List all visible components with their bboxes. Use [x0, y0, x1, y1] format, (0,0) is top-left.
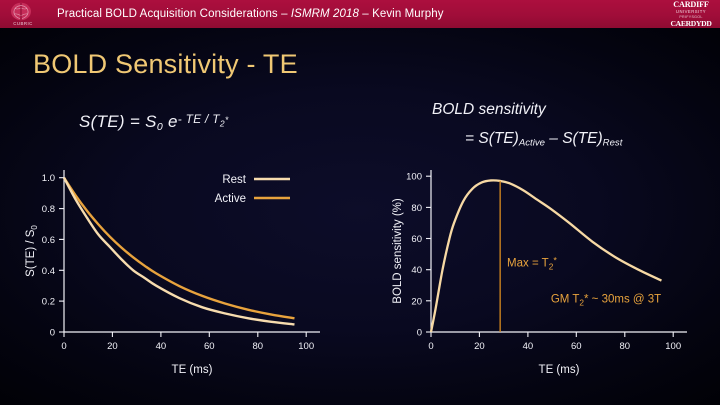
- signal-equation: S(TE) = S0 e- TE / T2*: [79, 112, 229, 133]
- axis-lines: [431, 170, 687, 332]
- cubric-brain-logo: CUBRIC: [2, 0, 44, 28]
- slide-canvas: CUBRIC Practical BOLD Acquisition Consid…: [0, 0, 720, 405]
- y-ticks: [426, 176, 431, 332]
- legend-label-rest: Rest: [222, 174, 246, 186]
- signal-equation-exponent-star: *: [225, 115, 229, 125]
- cubric-logo-caption: CUBRIC: [5, 21, 41, 26]
- chart-signal-decay: 0 0.2 0.4 0.6 0.8 1.0 0: [18, 152, 348, 387]
- brain-icon: [10, 2, 32, 21]
- y-tick-labels: 0 0.2 0.4 0.6 0.8 1.0: [42, 173, 55, 338]
- y-axis-title: BOLD sensitivity (%): [392, 198, 404, 304]
- header-title: Practical BOLD Acquisition Consideration…: [57, 8, 444, 20]
- x-tick-label: 40: [523, 341, 534, 352]
- sensitivity-eq-mid: – S(TE): [545, 130, 603, 147]
- curve-rest: [64, 178, 294, 325]
- header-title-italic: ISMRM 2018: [291, 8, 359, 20]
- y-axis-title-sub: 0: [30, 225, 39, 230]
- y-tick-label: 0.6: [42, 235, 55, 246]
- curve-bold-sensitivity: [431, 180, 661, 332]
- y-axis-title-main: S(TE) / S: [25, 229, 37, 277]
- svg-text:S(TE) / S0: S(TE) / S0: [25, 225, 39, 277]
- y-tick-label: 0: [417, 328, 422, 339]
- x-ticks: [431, 332, 673, 337]
- x-tick-labels: 0 20 40 60 80 100: [61, 341, 314, 352]
- signal-equation-lhs: S(TE) = S: [79, 112, 157, 131]
- y-tick-labels: 0 20 40 60 80 100: [406, 172, 422, 339]
- x-tick-label: 0: [61, 341, 66, 352]
- y-axis-title: S(TE) / S0: [25, 225, 39, 277]
- x-tick-label: 40: [156, 341, 167, 352]
- sensitivity-eq-sub-active: Active: [519, 138, 545, 149]
- x-ticks: [64, 332, 306, 337]
- x-tick-label: 20: [474, 341, 485, 352]
- cardiff-logo-line2: UNIVERSITY: [676, 9, 706, 14]
- x-tick-label: 100: [665, 341, 681, 352]
- x-tick-label: 60: [571, 341, 582, 352]
- x-axis-title: TE (ms): [172, 364, 213, 376]
- chart-legend: Rest Active: [215, 174, 290, 205]
- legend-label-active: Active: [215, 193, 246, 205]
- x-tick-label: 80: [620, 341, 631, 352]
- axis-lines: [64, 170, 320, 332]
- x-tick-label: 0: [428, 341, 433, 352]
- slide-header-bar: CUBRIC Practical BOLD Acquisition Consid…: [0, 0, 720, 28]
- sensitivity-eq-sub-rest: Rest: [603, 138, 623, 149]
- x-tick-label: 20: [107, 341, 118, 352]
- sensitivity-equation-line2: = S(TE)Active – S(TE)Rest: [465, 130, 622, 149]
- signal-equation-mid: e: [163, 112, 178, 131]
- y-tick-label: 100: [406, 172, 422, 183]
- annotation-max-t2star: Max = T2*: [507, 256, 557, 272]
- y-ticks: [59, 178, 64, 332]
- page-title: BOLD Sensitivity - TE: [33, 49, 298, 80]
- x-tick-labels: 0 20 40 60 80 100: [428, 341, 681, 352]
- x-tick-label: 100: [298, 341, 314, 352]
- x-tick-label: 60: [204, 341, 215, 352]
- svg-text:BOLD sensitivity (%): BOLD sensitivity (%): [392, 198, 404, 304]
- y-tick-label: 0.8: [42, 204, 55, 215]
- sensitivity-eq-pre: = S(TE): [465, 130, 519, 147]
- cardiff-university-logo: CARDIFF UNIVERSITY PRIFYSGOL CAERDYDD: [664, 1, 718, 27]
- y-tick-label: 60: [411, 234, 422, 245]
- y-tick-label: 80: [411, 203, 422, 214]
- y-tick-label: 40: [411, 265, 422, 276]
- axes-signal-decay: 0 0.2 0.4 0.6 0.8 1.0 0: [25, 170, 320, 376]
- sensitivity-equation-line1: BOLD sensitivity: [432, 101, 546, 119]
- header-title-prefix: Practical BOLD Acquisition Consideration…: [57, 8, 291, 20]
- y-tick-label: 0.4: [42, 266, 55, 277]
- x-tick-label: 80: [253, 341, 264, 352]
- y-tick-label: 0.2: [42, 297, 55, 308]
- chart-bold-sensitivity: 0 20 40 60 80 100 0 20: [385, 152, 715, 387]
- cardiff-logo-line4: CAERDYDD: [670, 19, 711, 28]
- header-title-suffix: – Kevin Murphy: [359, 8, 444, 20]
- y-tick-label: 1.0: [42, 173, 55, 184]
- y-tick-label: 0: [50, 328, 55, 339]
- y-tick-label: 20: [411, 296, 422, 307]
- x-axis-title: TE (ms): [539, 364, 580, 376]
- annotation-gm-t2star: GM T2* ~ 30ms @ 3T: [551, 293, 661, 307]
- signal-equation-exponent: - TE / T: [178, 112, 220, 126]
